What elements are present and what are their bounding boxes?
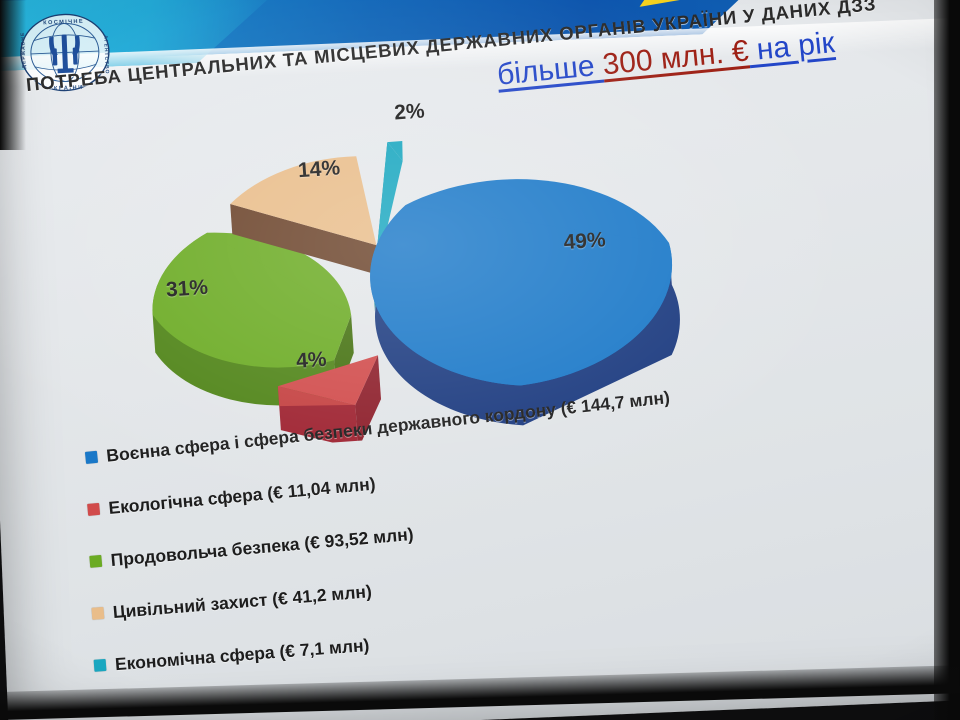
legend-swatch-ecology [87,503,100,516]
legend-swatch-civil-protection [91,607,104,620]
projection-screen: КОСМІЧНЕ УКРАЇНИ АГЕНТСТВО ДЕРЖАВНЕ ПОТР… [0,0,960,720]
screen-right-edge [934,0,960,720]
legend-swatch-economy [94,659,107,672]
legend-label-civil-protection: Цивільний захист (€ 41,2 млн) [112,581,373,623]
pie-label-civil-protection: 14% [297,156,341,183]
legend-label-ecology: Екологічна сфера (€ 11,04 млн) [108,473,377,518]
legend-swatch-military [85,451,98,464]
legend-swatch-food-security [89,555,102,568]
pie-label-food-security: 31% [165,276,209,303]
legend-label-food-security: Продовольча безпека (€ 93,52 млн) [110,523,415,570]
pie-label-economy: 2% [394,99,426,125]
pie-label-military: 49% [563,228,607,255]
callout-part-per-year: на рік [747,26,836,67]
pie-label-ecology: 4% [295,348,327,374]
presentation-slide: КОСМІЧНЕ УКРАЇНИ АГЕНТСТВО ДЕРЖАВНЕ ПОТР… [0,0,960,720]
chart-legend: Воєнна сфера і сфера безпеки державного … [84,398,934,692]
legend-label-economy: Економічна сфера (€ 7,1 млн) [114,634,370,674]
screen-left-edge [0,0,26,150]
